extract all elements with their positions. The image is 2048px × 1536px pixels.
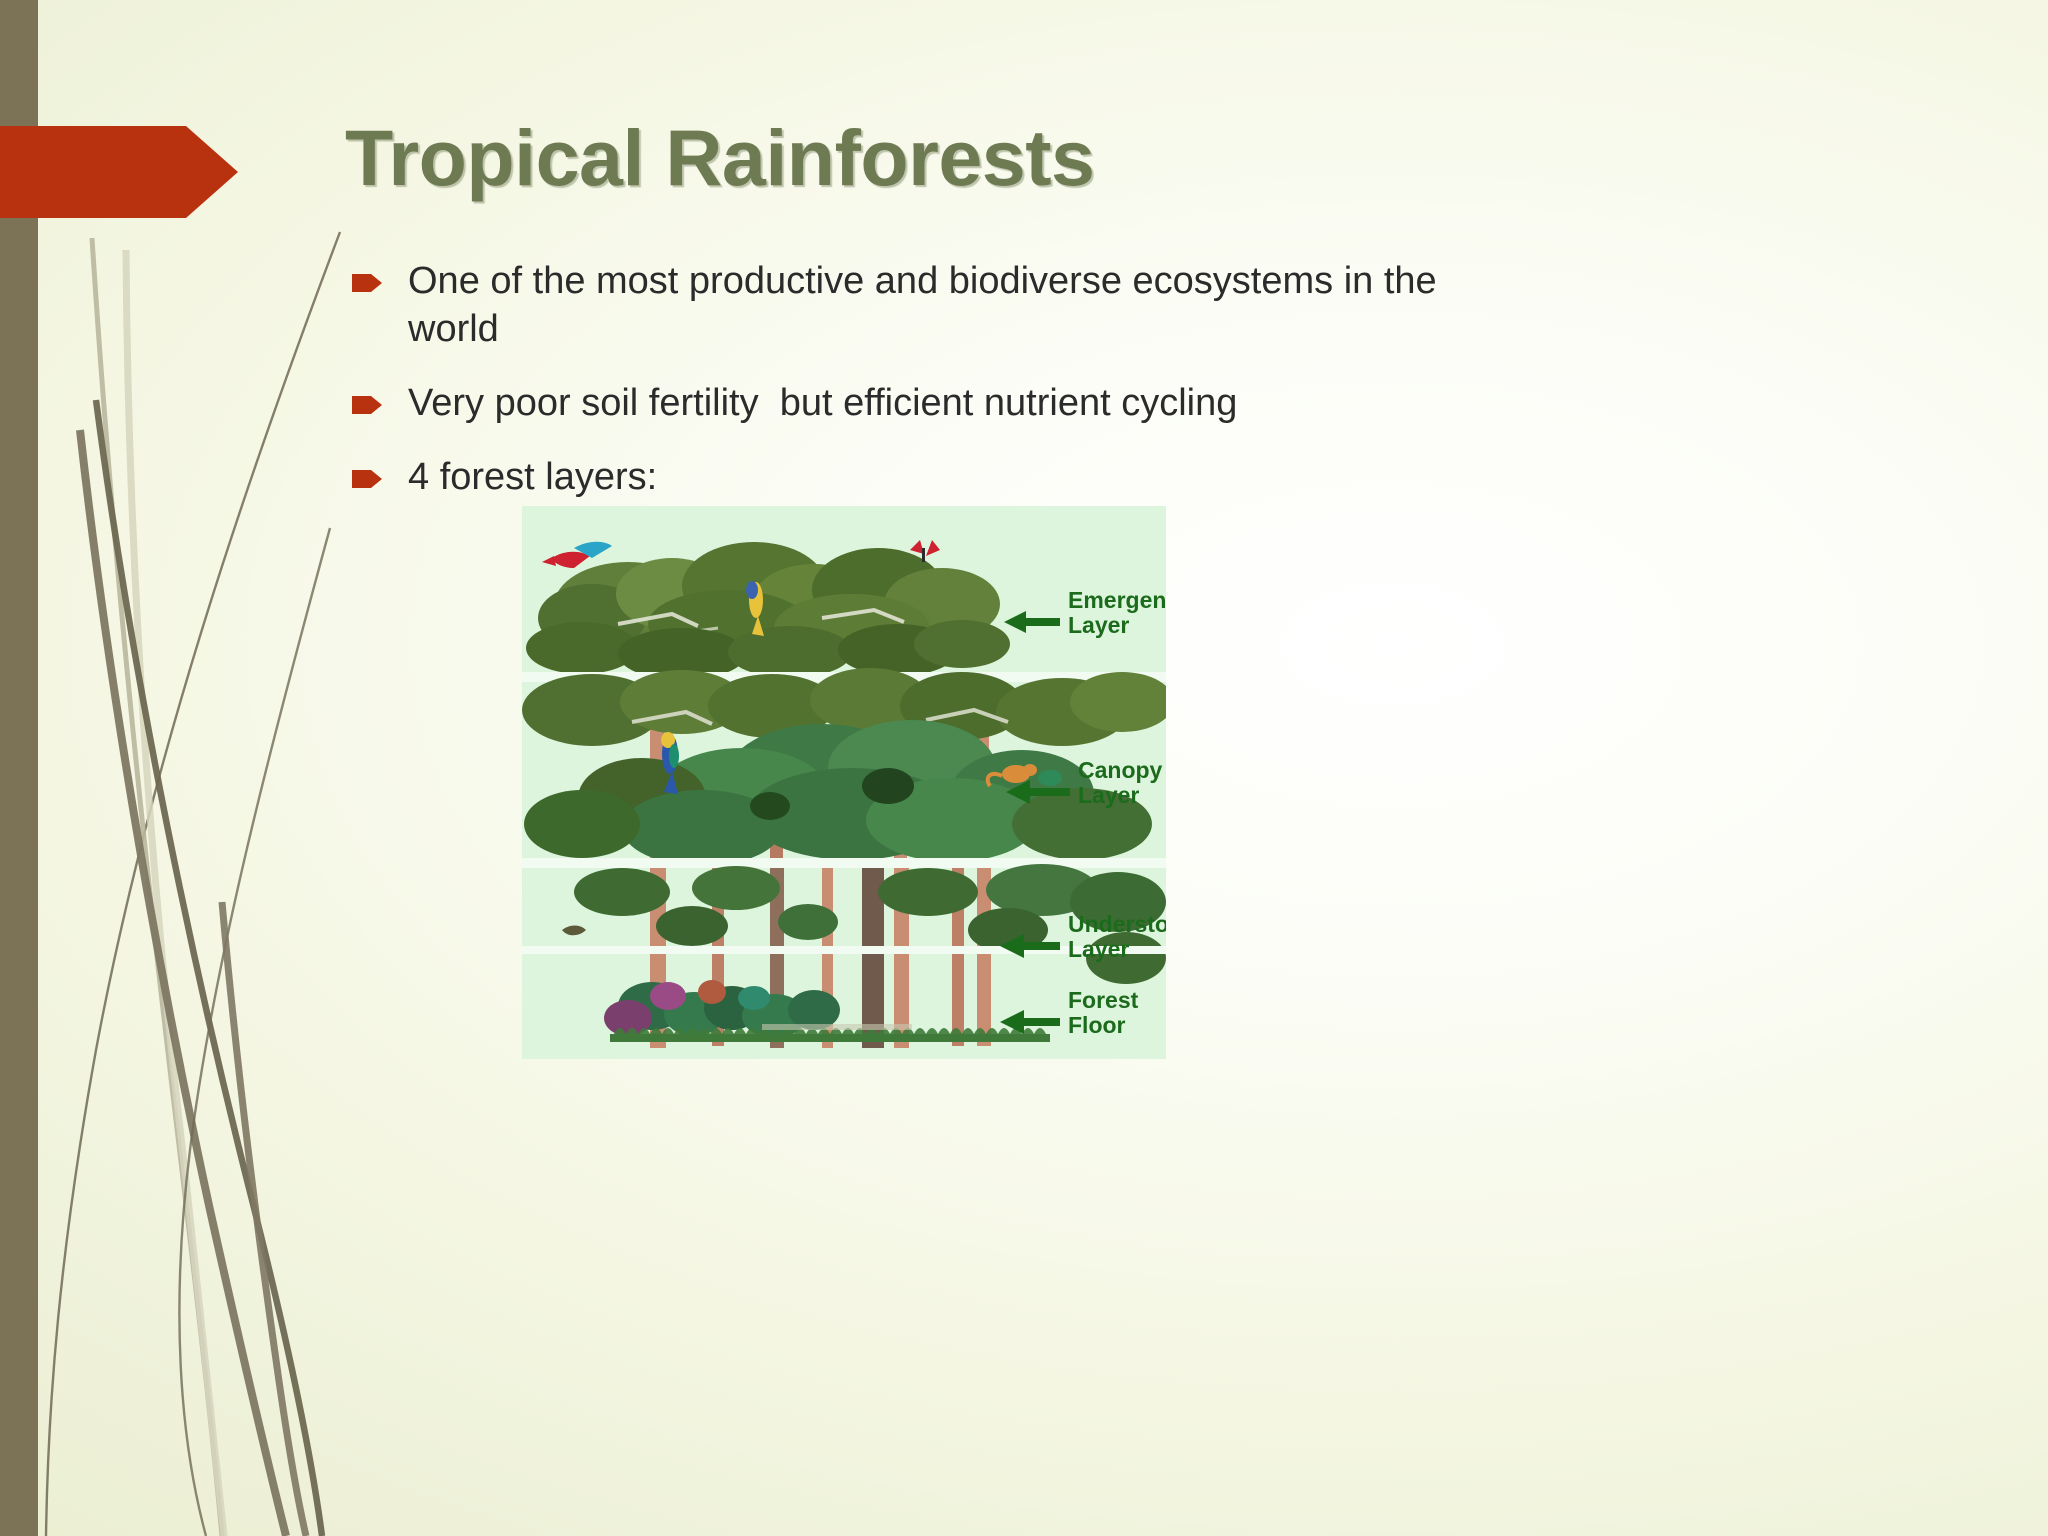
- grass-decoration: [0, 0, 560, 1536]
- left-accent-band: [0, 0, 38, 1536]
- slide: Tropical Rainforests One of the most pro…: [0, 0, 2048, 1536]
- emergent-layer-label-line1: Emergent: [1068, 587, 1166, 613]
- emergent-layer-label-line2: Layer: [1068, 612, 1129, 638]
- list-item-label: One of the most productive and biodivers…: [408, 258, 1472, 354]
- title-accent-banner: [0, 126, 238, 218]
- list-item-label: Very poor soil fertility but efficient n…: [408, 380, 1237, 428]
- rainforest-layers-diagram: Emergent Layer Canopy Layer Understory L…: [522, 506, 1166, 1059]
- page-title: Tropical Rainforests: [345, 112, 1095, 204]
- understory-layer-label-line1: Understory: [1068, 911, 1166, 937]
- bullet-list: One of the most productive and biodivers…: [352, 258, 1472, 528]
- list-item: Very poor soil fertility but efficient n…: [352, 380, 1472, 428]
- list-item: One of the most productive and biodivers…: [352, 258, 1472, 354]
- canopy-layer-label-line2: Layer: [1078, 782, 1139, 808]
- forest-floor-label-line2: Floor: [1068, 1012, 1126, 1038]
- list-item: 4 forest layers:: [352, 454, 1472, 502]
- red-arrow-bullet-icon: [352, 468, 382, 490]
- forest-floor-label-line1: Forest: [1068, 987, 1139, 1013]
- understory-layer-label-line2: Layer: [1068, 936, 1129, 962]
- canopy-layer-art: [522, 668, 1166, 866]
- red-arrow-bullet-icon: [352, 394, 382, 416]
- list-item-label: 4 forest layers:: [408, 454, 657, 502]
- canopy-layer-label-line1: Canopy: [1078, 757, 1163, 783]
- red-arrow-bullet-icon: [352, 272, 382, 294]
